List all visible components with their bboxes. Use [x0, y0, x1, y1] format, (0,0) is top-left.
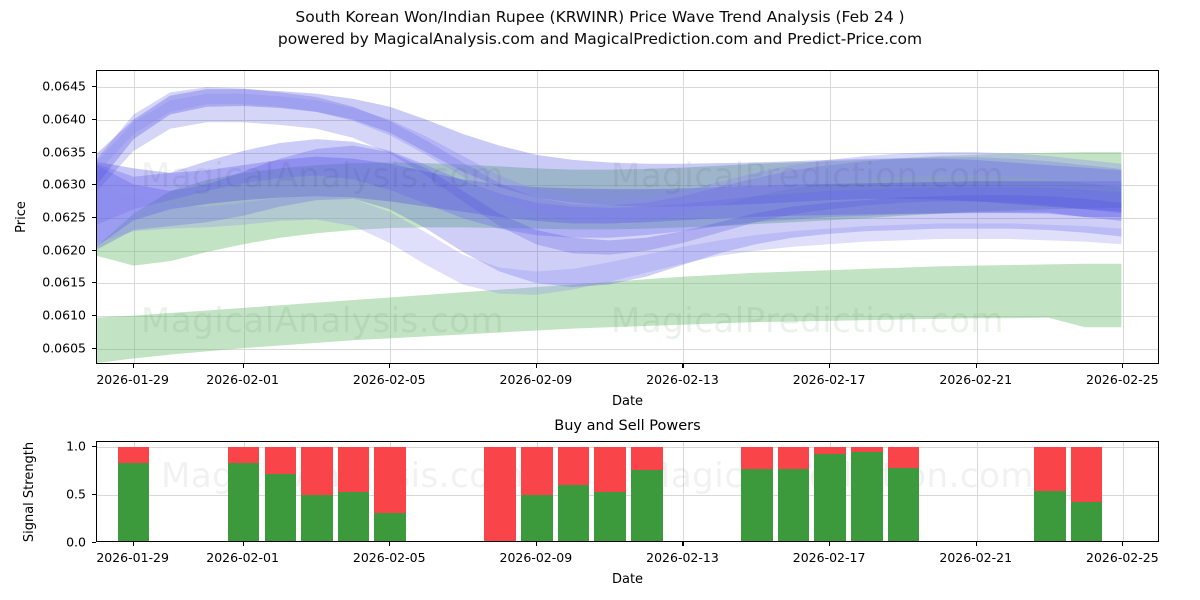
sell-power-bar[interactable] — [778, 447, 810, 469]
power-x-tick-label: 2026-02-13 — [646, 550, 719, 565]
tick-mark — [682, 542, 683, 546]
tick-mark — [389, 364, 390, 368]
tick-mark — [92, 315, 96, 316]
sell-power-bar[interactable] — [1071, 447, 1103, 502]
price-x-tick-label: 2026-01-29 — [96, 372, 169, 387]
price-x-tick-label: 2026-02-21 — [939, 372, 1012, 387]
tick-mark — [829, 542, 830, 546]
gridline — [683, 442, 684, 541]
buy-power-bar[interactable] — [228, 463, 260, 542]
buy-power-bar[interactable] — [521, 495, 553, 542]
power-y-axis-title: Signal Strength — [22, 441, 37, 541]
tick-mark — [976, 364, 977, 368]
buy-power-bar[interactable] — [631, 470, 663, 542]
price-x-axis-title: Date — [612, 394, 643, 409]
sell-power-bar[interactable] — [301, 447, 333, 495]
price-y-tick-label: 0.0635 — [16, 144, 86, 159]
buy-power-bar[interactable] — [888, 468, 920, 542]
power-x-tick-label: 2026-02-01 — [206, 550, 279, 565]
tick-mark — [829, 364, 830, 368]
buy-power-bar[interactable] — [301, 495, 333, 542]
tick-mark — [243, 542, 244, 546]
price-y-tick-label: 0.0630 — [16, 177, 86, 192]
sell-power-bar[interactable] — [814, 447, 846, 454]
price-x-tick-label: 2026-02-05 — [353, 372, 426, 387]
price-x-tick-label: 2026-02-01 — [206, 372, 279, 387]
tick-mark — [976, 542, 977, 546]
title-line-2: powered by MagicalAnalysis.com and Magic… — [0, 28, 1200, 50]
sell-power-bar[interactable] — [594, 447, 626, 492]
gridline — [1123, 442, 1124, 541]
tick-mark — [92, 119, 96, 120]
power-y-tick-label: 0.0 — [40, 535, 86, 550]
price-y-tick-label: 0.0605 — [16, 340, 86, 355]
sell-power-bar[interactable] — [1034, 447, 1066, 491]
page-title: South Korean Won/Indian Rupee (KRWINR) P… — [0, 6, 1200, 50]
sell-power-bar[interactable] — [118, 447, 150, 463]
sell-power-bar[interactable] — [521, 447, 553, 495]
power-y-tick-label: 1.0 — [40, 438, 86, 453]
sell-power-bar[interactable] — [484, 447, 516, 542]
buy-power-bar[interactable] — [1034, 491, 1066, 542]
tick-mark — [133, 542, 134, 546]
tick-mark — [92, 282, 96, 283]
tick-mark — [1122, 364, 1123, 368]
power-x-axis-title: Date — [612, 572, 643, 587]
power-y-tick-label: 0.5 — [40, 486, 86, 501]
sell-power-bar[interactable] — [338, 447, 370, 492]
price-y-tick-label: 0.0615 — [16, 275, 86, 290]
tick-mark — [92, 86, 96, 87]
power-x-tick-label: 2026-02-21 — [939, 550, 1012, 565]
power-x-tick-label: 2026-02-25 — [1086, 550, 1159, 565]
sell-power-bar[interactable] — [888, 447, 920, 468]
buy-power-bar[interactable] — [374, 513, 406, 542]
gridline — [977, 442, 978, 541]
buy-power-bar[interactable] — [1071, 502, 1103, 542]
buy-power-bar[interactable] — [778, 469, 810, 542]
tick-mark — [682, 364, 683, 368]
price-wave-bands — [97, 71, 1158, 363]
tick-mark — [536, 542, 537, 546]
buy-power-bar[interactable] — [851, 452, 883, 542]
power-x-tick-label: 2026-01-29 — [96, 550, 169, 565]
price-x-tick-label: 2026-02-13 — [646, 372, 719, 387]
power-plot-area: MagicalAnalysis.comMagicalPrediction.com — [96, 441, 1159, 542]
chart-page: South Korean Won/Indian Rupee (KRWINR) P… — [0, 0, 1200, 600]
sell-power-bar[interactable] — [558, 447, 590, 485]
price-y-tick-label: 0.0645 — [16, 79, 86, 94]
tick-mark — [92, 217, 96, 218]
sell-power-bar[interactable] — [228, 447, 260, 463]
tick-mark — [536, 364, 537, 368]
price-x-tick-label: 2026-02-25 — [1086, 372, 1159, 387]
buy-power-bar[interactable] — [814, 454, 846, 542]
power-x-tick-label: 2026-02-17 — [793, 550, 866, 565]
price-x-tick-label: 2026-02-09 — [500, 372, 573, 387]
sell-power-bar[interactable] — [265, 447, 297, 474]
price-y-tick-label: 0.0640 — [16, 112, 86, 127]
buy-power-bar[interactable] — [594, 492, 626, 542]
power-x-tick-label: 2026-02-05 — [353, 550, 426, 565]
tick-mark — [243, 364, 244, 368]
price-x-tick-label: 2026-02-17 — [793, 372, 866, 387]
sell-power-bar[interactable] — [374, 447, 406, 513]
title-line-1: South Korean Won/Indian Rupee (KRWINR) P… — [0, 6, 1200, 28]
price-y-tick-label: 0.0620 — [16, 242, 86, 257]
sell-power-bar[interactable] — [741, 447, 773, 469]
price-plot-area: MagicalAnalysis.comMagicalPrediction.com… — [96, 70, 1159, 364]
buy-power-bar[interactable] — [558, 485, 590, 542]
price-y-tick-label: 0.0610 — [16, 308, 86, 323]
power-x-tick-label: 2026-02-09 — [500, 550, 573, 565]
tick-mark — [92, 494, 96, 495]
buy-power-bar[interactable] — [741, 469, 773, 542]
tick-mark — [133, 364, 134, 368]
buy-power-bar[interactable] — [338, 492, 370, 542]
tick-mark — [389, 542, 390, 546]
tick-mark — [92, 152, 96, 153]
sell-power-bar[interactable] — [631, 447, 663, 470]
tick-mark — [92, 184, 96, 185]
buy-power-bar[interactable] — [265, 474, 297, 542]
buy-power-bar[interactable] — [118, 463, 150, 542]
tick-mark — [1122, 542, 1123, 546]
tick-mark — [92, 446, 96, 447]
price-y-axis-title: Price — [14, 201, 29, 233]
tick-mark — [92, 348, 96, 349]
power-chart-title: Buy and Sell Powers — [554, 418, 700, 434]
tick-mark — [92, 250, 96, 251]
tick-mark — [92, 542, 96, 543]
